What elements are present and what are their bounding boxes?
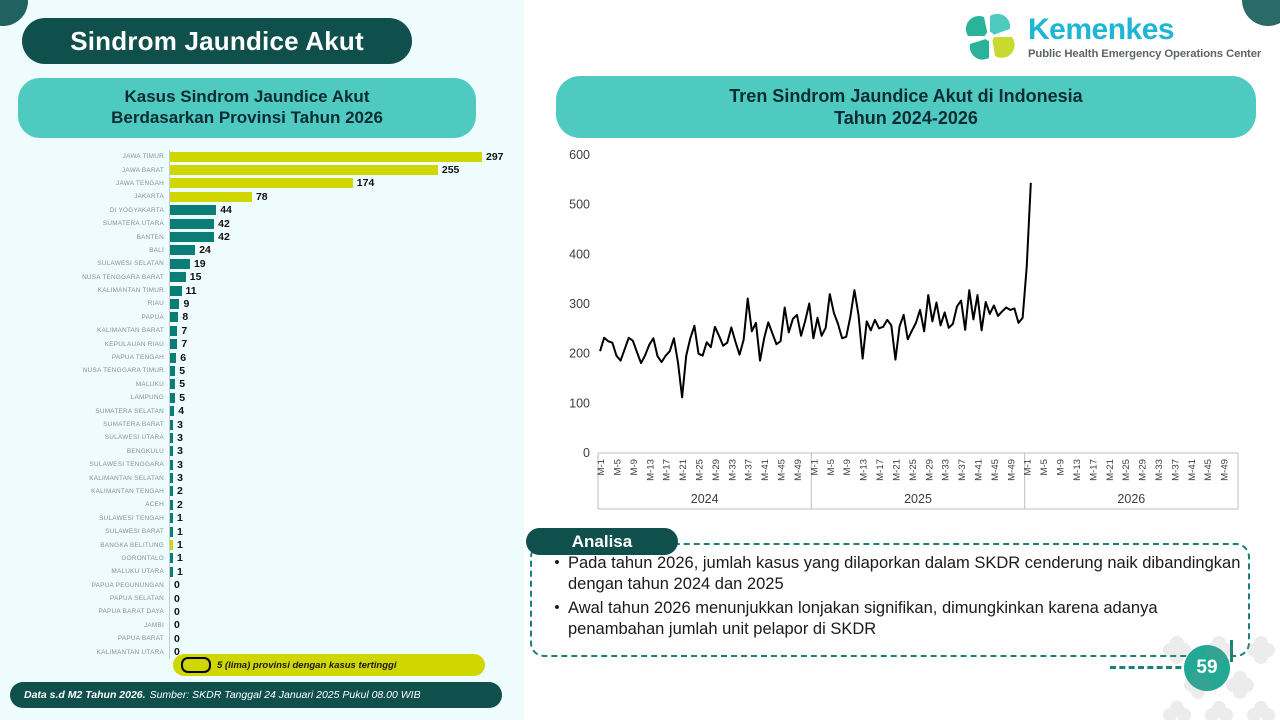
bar-track: 0 [169,579,508,592]
bar-value: 0 [174,606,180,618]
bar-track: 2 [169,498,508,511]
bar-track: 8 [169,311,508,324]
right-chart-title-line2: Tahun 2024-2026 [834,107,978,130]
bar-track: 5 [169,391,508,404]
bar-row: MALUKU5 [18,378,508,391]
bar-track: 7 [169,324,508,337]
bar-track: 174 [169,177,508,190]
bar-label: SULAWESI TENGAH [18,515,169,522]
bar-value: 3 [177,459,183,471]
bar-track: 3 [169,445,508,458]
bar-fill [170,312,178,322]
bar-track: 24 [169,244,508,257]
bar-label: SUMATERA BARAT [18,421,169,428]
bar-row: PAPUA PEGUNUNGAN0 [18,579,508,592]
analysis-item: •Pada tahun 2026, jumlah kasus yang dila… [546,553,1246,595]
bar-value: 3 [177,445,183,457]
bar-track: 42 [169,217,508,230]
x-axis-tick-label: M-41 [1187,459,1198,481]
x-axis-tick-label: M-49 [793,459,804,481]
x-axis-year-label: 2026 [1117,492,1145,506]
bar-row: NUSA TENGGARA TIMUR5 [18,364,508,377]
bar-label: MALUKU UTARA [18,568,169,575]
bar-value: 24 [199,244,211,256]
bar-fill [170,152,482,162]
bar-fill [170,192,252,202]
bar-track: 5 [169,364,508,377]
x-axis-tick-label: M-45 [990,459,1001,481]
bar-value: 0 [174,579,180,591]
y-axis-tick-label: 600 [569,148,590,162]
bar-value: 0 [174,619,180,631]
bar-fill [170,379,175,389]
footer-normal-text: Sumber: SKDR Tanggal 24 Januari 2025 Puk… [150,689,421,701]
bar-fill [170,178,353,188]
x-axis-tick-label: M-49 [1220,459,1231,481]
x-axis-tick-label: M-29 [924,459,935,481]
bar-value: 3 [177,419,183,431]
x-axis-tick-label: M-1 [596,459,607,476]
footer-bold-text: Data s.d M2 Tahun 2026. [24,689,146,701]
bar-fill [170,446,173,456]
trend-line-series [600,183,1031,398]
bar-label: KALIMANTAN TENGAH [18,488,169,495]
bar-label: SUMATERA UTARA [18,220,169,227]
bar-row: SULAWESI SELATAN19 [18,257,508,270]
bar-track: 1 [169,538,508,551]
x-axis-tick-label: M-13 [645,459,656,481]
bar-row: SULAWESI BARAT1 [18,525,508,538]
x-axis-tick-label: M-5 [1039,459,1050,476]
kemenkes-flower-icon [962,9,1022,65]
bar-label: PAPUA PEGUNUNGAN [18,582,169,589]
bar-fill [170,259,190,269]
bar-row: LAMPUNG5 [18,391,508,404]
bar-value: 6 [180,352,186,364]
bar-label: PAPUA BARAT DAYA [18,608,169,615]
bar-fill [170,500,173,510]
bar-label: ACEH [18,501,169,508]
bar-label: KALIMANTAN UTARA [18,649,169,656]
bar-label: PAPUA [18,314,169,321]
x-axis-tick-label: M-5 [826,459,837,476]
bar-fill [170,460,173,470]
logo-title: Kemenkes [1028,15,1261,45]
left-chart-title-line2: Berdasarkan Provinsi Tahun 2026 [111,108,383,129]
bar-label: SULAWESI SELATAN [18,260,169,267]
bar-row: KALIMANTAN SELATAN3 [18,471,508,484]
bar-value: 255 [442,164,460,176]
bar-row: DI YOGYAKARTA44 [18,204,508,217]
y-axis-tick-label: 400 [569,247,590,261]
bar-fill [170,326,177,336]
x-axis-tick-label: M-17 [1088,459,1099,481]
x-axis-tick-label: M-29 [711,459,722,481]
bar-row: GORONTALO1 [18,552,508,565]
bar-label: PAPUA SELATAN [18,595,169,602]
x-axis-tick-label: M-45 [777,459,788,481]
bar-track: 9 [169,297,508,310]
bar-track: 19 [169,257,508,270]
bar-fill [170,272,186,282]
x-axis-tick-label: M-9 [842,459,853,476]
bar-value: 0 [174,593,180,605]
bar-value: 2 [177,499,183,511]
bar-label: SULAWESI TENGGARA [18,461,169,468]
bar-label: BALI [18,247,169,254]
bar-label: BANGKA BELITUNG [18,542,169,549]
bar-track: 1 [169,552,508,565]
bar-label: NUSA TENGGARA BARAT [18,274,169,281]
x-axis-tick-label: M-33 [727,459,738,481]
x-axis-tick-label: M-33 [1154,459,1165,481]
bar-label: KALIMANTAN TIMUR [18,287,169,294]
x-axis-tick-label: M-37 [744,459,755,481]
bar-track: 44 [169,204,508,217]
logo-text-block: Kemenkes Public Health Emergency Operati… [1028,15,1261,60]
bar-fill [170,433,173,443]
right-chart-title-line1: Tren Sindrom Jaundice Akut di Indonesia [729,85,1082,108]
bar-value: 1 [177,566,183,578]
bar-track: 3 [169,458,508,471]
bar-row: BANTEN42 [18,230,508,243]
analysis-item-text: Pada tahun 2026, jumlah kasus yang dilap… [568,553,1246,595]
bar-row: SULAWESI UTARA3 [18,431,508,444]
bar-row: JAWA TENGAH174 [18,177,508,190]
bar-track: 3 [169,431,508,444]
bar-label: SULAWESI UTARA [18,434,169,441]
bar-fill [170,420,173,430]
analysis-item-text: Awal tahun 2026 menunjukkan lonjakan sig… [568,598,1246,640]
bar-row: PAPUA BARAT0 [18,632,508,645]
analysis-item: •Awal tahun 2026 menunjukkan lonjakan si… [546,598,1246,640]
province-bar-chart: JAWA TIMUR297JAWA BARAT255JAWA TENGAH174… [18,150,508,662]
bar-row: PAPUA BARAT DAYA0 [18,605,508,618]
bar-row: KEPULAUAN RIAU7 [18,337,508,350]
bar-label: KEPULAUAN RIAU [18,341,169,348]
bar-label: NUSA TENGGARA TIMUR [18,367,169,374]
y-axis-tick-label: 200 [569,347,590,361]
x-axis-tick-label: M-45 [1203,459,1214,481]
bar-label: DI YOGYAKARTA [18,207,169,214]
bar-row: SULAWESI TENGGARA3 [18,458,508,471]
bar-label: LAMPUNG [18,394,169,401]
bar-row: PAPUA8 [18,311,508,324]
bar-value: 15 [190,271,202,283]
bar-fill [170,353,176,363]
bar-track: 1 [169,525,508,538]
bar-row: SUMATERA BARAT3 [18,418,508,431]
y-axis-tick-label: 300 [569,297,590,311]
x-axis-tick-label: M-1 [809,459,820,476]
bar-fill [170,553,173,563]
bar-value: 1 [177,512,183,524]
bar-fill [170,286,182,296]
legend-chip: 5 (lima) provinsi dengan kasus tertinggi [173,654,485,676]
legend-label: 5 (lima) provinsi dengan kasus tertinggi [217,660,396,671]
analysis-tab: Analisa [526,528,678,555]
left-chart-title-line1: Kasus Sindrom Jaundice Akut [125,87,370,108]
x-axis-tick-label: M-37 [1170,459,1181,481]
bar-track: 78 [169,190,508,203]
bar-label: JAWA TENGAH [18,180,169,187]
bar-row: MALUKU UTARA1 [18,565,508,578]
x-axis-tick-label: M-5 [612,459,623,476]
bar-fill [170,339,177,349]
x-axis-tick-label: M-25 [908,459,919,481]
bar-row: ACEH2 [18,498,508,511]
trend-line-svg: 0100200300400500600M-1M-5M-9M-13M-17M-21… [540,145,1260,515]
bar-fill [170,299,179,309]
bar-value: 42 [218,231,230,243]
bar-track: 255 [169,163,508,176]
bar-fill [170,486,173,496]
bar-row: JAWA BARAT255 [18,163,508,176]
x-axis-tick-label: M-13 [859,459,870,481]
x-axis-tick-label: M-9 [1056,459,1067,476]
bar-fill [170,232,214,242]
decorative-pattern-watermark [1150,620,1280,720]
bar-label: RIAU [18,300,169,307]
analysis-bullet-icon: • [546,598,568,640]
bar-row: SULAWESI TENGAH1 [18,512,508,525]
bar-row: RIAU9 [18,297,508,310]
bar-value: 11 [186,285,197,297]
bar-track: 1 [169,565,508,578]
bar-row: BANGKA BELITUNG1 [18,538,508,551]
bar-label: PAPUA BARAT [18,635,169,642]
x-axis-tick-label: M-37 [957,459,968,481]
bar-row: BENGKULU3 [18,445,508,458]
bar-row: JAWA TIMUR297 [18,150,508,163]
bar-track: 0 [169,605,508,618]
bar-track: 11 [169,284,508,297]
bar-fill [170,567,173,577]
bar-fill [170,527,173,537]
bar-track: 0 [169,632,508,645]
bar-row: JAMBI0 [18,619,508,632]
bar-row: SUMATERA SELATAN4 [18,404,508,417]
slide-title: Sindrom Jaundice Akut [22,18,412,64]
analysis-list: •Pada tahun 2026, jumlah kasus yang dila… [546,553,1246,643]
x-axis-tick-label: M-21 [891,459,902,481]
y-axis-tick-label: 100 [569,396,590,410]
bar-track: 297 [169,150,508,163]
x-axis-tick-label: M-33 [941,459,952,481]
bar-fill [170,540,173,550]
logo-subtitle: Public Health Emergency Operations Cente… [1028,48,1261,60]
bar-row: PAPUA TENGAH6 [18,351,508,364]
bar-label: JAWA TIMUR [18,153,169,160]
bar-label: JAKARTA [18,193,169,200]
bar-label: SULAWESI BARAT [18,528,169,535]
bar-track: 15 [169,271,508,284]
bar-value: 5 [179,392,185,404]
bar-track: 2 [169,485,508,498]
bar-label: SUMATERA SELATAN [18,408,169,415]
x-axis-tick-label: M-17 [875,459,886,481]
bar-value: 3 [177,472,183,484]
bar-value: 44 [220,204,232,216]
legend-swatch-icon [181,657,211,673]
bar-row: KALIMANTAN BARAT7 [18,324,508,337]
x-axis-tick-label: M-9 [629,459,640,476]
bar-value: 5 [179,378,185,390]
bar-fill [170,473,173,483]
trend-line-chart: 0100200300400500600M-1M-5M-9M-13M-17M-21… [540,145,1260,515]
bar-label: MALUKU [18,381,169,388]
bar-row: JAKARTA78 [18,190,508,203]
x-axis-tick-label: M-41 [973,459,984,481]
x-axis-tick-label: M-13 [1072,459,1083,481]
bar-track: 3 [169,418,508,431]
footer-source: Data s.d M2 Tahun 2026. Sumber: SKDR Tan… [10,682,502,708]
bar-row: NUSA TENGGARA BARAT15 [18,271,508,284]
x-axis-year-label: 2025 [904,492,932,506]
bar-value: 42 [218,218,230,230]
x-axis-tick-label: M-25 [1121,459,1132,481]
bar-value: 2 [177,485,183,497]
bar-fill [170,205,216,215]
bar-value: 9 [183,298,189,310]
bar-fill [170,513,173,523]
bar-fill [170,219,214,229]
x-axis-year-label: 2024 [691,492,719,506]
bar-track: 1 [169,512,508,525]
x-axis-tick-label: M-25 [695,459,706,481]
y-axis-tick-label: 0 [583,446,590,460]
bar-track: 4 [169,404,508,417]
bar-row: BALI24 [18,244,508,257]
left-chart-title: Kasus Sindrom Jaundice Akut Berdasarkan … [18,78,476,138]
slide-title-text: Sindrom Jaundice Akut [70,26,364,57]
bar-fill [170,366,175,376]
kemenkes-logo: Kemenkes Public Health Emergency Operati… [962,6,1272,68]
bar-row: KALIMANTAN TIMUR11 [18,284,508,297]
bar-track: 0 [169,619,508,632]
x-axis-tick-label: M-1 [1023,459,1034,476]
bar-value: 8 [182,311,188,323]
bar-track: 0 [169,592,508,605]
bar-value: 7 [181,325,187,337]
x-axis-tick-label: M-21 [678,459,689,481]
right-chart-title: Tren Sindrom Jaundice Akut di Indonesia … [556,76,1256,138]
bar-label: BANTEN [18,234,169,241]
bar-label: BENGKULU [18,448,169,455]
bar-label: PAPUA TENGAH [18,354,169,361]
bar-label: KALIMANTAN SELATAN [18,475,169,482]
bar-value: 1 [177,539,183,551]
bar-value: 78 [256,191,268,203]
bar-track: 3 [169,471,508,484]
bar-label: KALIMANTAN BARAT [18,327,169,334]
y-axis-tick-label: 500 [569,198,590,212]
bar-fill [170,393,175,403]
bar-track: 5 [169,378,508,391]
bar-value: 174 [357,177,375,189]
bar-value: 1 [177,552,183,564]
bar-row: PAPUA SELATAN0 [18,592,508,605]
bar-fill [170,406,174,416]
bar-value: 4 [178,405,184,417]
bar-label: JAMBI [18,622,169,629]
bar-row: KALIMANTAN TENGAH2 [18,485,508,498]
x-axis-tick-label: M-17 [662,459,673,481]
x-axis-tick-label: M-21 [1105,459,1116,481]
bar-value: 0 [174,633,180,645]
bar-value: 19 [194,258,206,270]
bar-track: 42 [169,230,508,243]
x-axis-tick-label: M-49 [1006,459,1017,481]
bar-value: 5 [179,365,185,377]
x-axis-tick-label: M-41 [760,459,771,481]
bar-value: 7 [181,338,187,350]
bar-fill [170,165,438,175]
analysis-bullet-icon: • [546,553,568,595]
bar-value: 1 [177,526,183,538]
bar-value: 3 [177,432,183,444]
bar-value: 297 [486,151,504,163]
bar-label: GORONTALO [18,555,169,562]
bar-track: 7 [169,337,508,350]
x-axis-tick-label: M-29 [1138,459,1149,481]
bar-track: 6 [169,351,508,364]
bar-row: SUMATERA UTARA42 [18,217,508,230]
bar-label: JAWA BARAT [18,167,169,174]
bar-fill [170,245,195,255]
analysis-label: Analisa [572,532,632,552]
